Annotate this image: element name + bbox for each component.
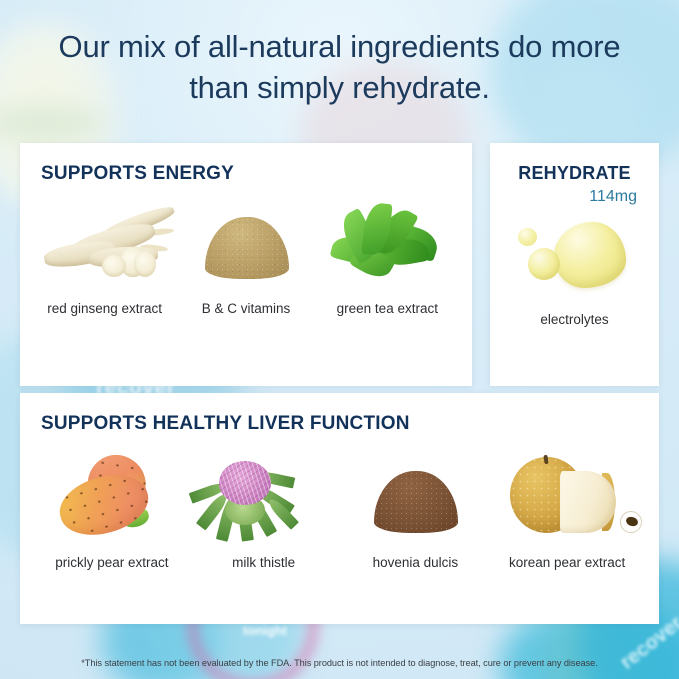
ingredient-caption: prickly pear extract [55, 555, 168, 570]
ingredient-hovenia-dulcis: hovenia dulcis [350, 443, 480, 570]
milk-thistle-flower-icon [199, 443, 329, 547]
rehydrate-dose-value: 114mg [490, 188, 637, 206]
ingredient-caption: red ginseng extract [47, 301, 162, 316]
green-tea-leaves-icon [322, 189, 452, 293]
ingredient-red-ginseng-extract: red ginseng extract [40, 189, 170, 316]
ingredient-list-energy: red ginseng extract B & C vitamins green… [20, 189, 472, 316]
card-supports-energy: SUPPORTS ENERGY red ginseng extract B & … [20, 143, 472, 386]
ingredient-caption: electrolytes [540, 312, 608, 327]
brown-powder-mound-icon [350, 443, 480, 547]
ginseng-root-icon [40, 189, 170, 293]
page-headline: Our mix of all-natural ingredients do mo… [0, 26, 679, 108]
card-title-rehydrate: REHYDRATE [490, 163, 659, 184]
ingredient-korean-pear-extract: korean pear extract [502, 443, 632, 570]
ingredient-green-tea-extract: green tea extract [322, 189, 452, 316]
ingredient-caption: korean pear extract [509, 555, 625, 570]
card-supports-healthy-liver-function: SUPPORTS HEALTHY LIVER FUNCTION prickly … [20, 393, 659, 624]
ingredient-caption: green tea extract [337, 301, 438, 316]
ingredient-b-and-c-vitamins: B & C vitamins [181, 189, 311, 316]
ingredient-list-rehydrate: electrolytes [490, 208, 659, 327]
yellow-liquid-droplets-icon [510, 208, 640, 304]
fda-disclaimer: *This statement has not been evaluated b… [0, 658, 679, 668]
ingredient-list-liver: prickly pear extract milk thistle hoveni… [20, 443, 659, 570]
prickly-pear-fruit-icon [47, 443, 177, 547]
ingredient-caption: milk thistle [232, 555, 295, 570]
ingredient-caption: hovenia dulcis [373, 555, 459, 570]
ingredient-electrolytes: electrolytes [510, 208, 640, 327]
ingredient-prickly-pear-extract: prickly pear extract [47, 443, 177, 570]
ingredient-caption: B & C vitamins [202, 301, 291, 316]
ingredient-milk-thistle: milk thistle [199, 443, 329, 570]
card-rehydrate: REHYDRATE 114mg electrolytes [490, 143, 659, 386]
tan-powder-mound-icon [181, 189, 311, 293]
card-title-supports-energy: SUPPORTS ENERGY [41, 163, 472, 185]
korean-pear-fruit-icon [502, 443, 632, 547]
card-title-supports-healthy-liver-function: SUPPORTS HEALTHY LIVER FUNCTION [41, 413, 659, 435]
background-text-tonight: tonight [243, 623, 287, 638]
